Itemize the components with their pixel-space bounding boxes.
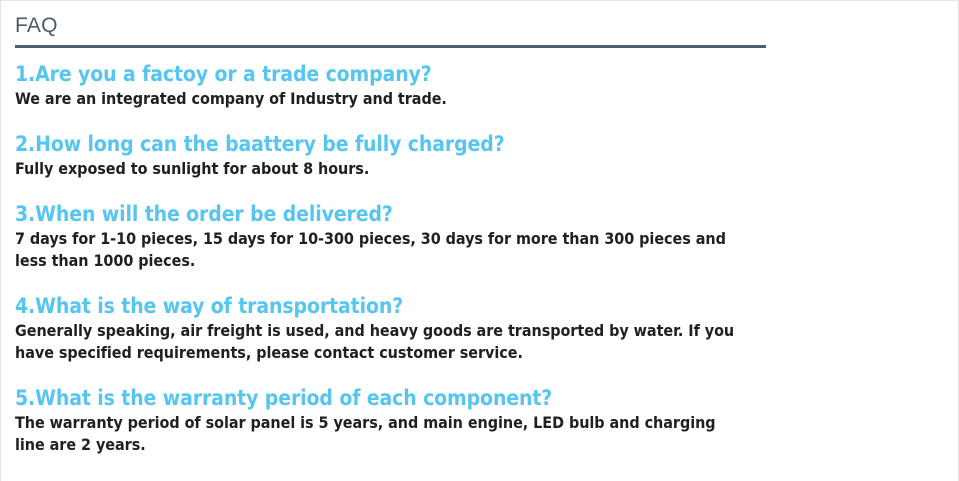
faq-answer: We are an integrated company of Industry… [15, 88, 743, 110]
faq-answer: Fully exposed to sunlight for about 8 ho… [15, 158, 743, 180]
faq-answer: 7 days for 1-10 pieces, 15 days for 10-3… [15, 228, 743, 272]
faq-panel: FAQ 1.Are you a factoy or a trade compan… [0, 0, 959, 481]
faq-question: 4.What is the way of transportation? [15, 294, 944, 318]
faq-item: 4.What is the way of transportation? Gen… [15, 294, 944, 364]
faq-question: 5.What is the warranty period of each co… [15, 386, 944, 410]
faq-list: 1.Are you a factoy or a trade company? W… [15, 48, 944, 456]
faq-answer: The warranty period of solar panel is 5 … [15, 412, 743, 456]
faq-question: 3.When will the order be delivered? [15, 202, 944, 226]
faq-item: 2.How long can the baattery be fully cha… [15, 132, 944, 180]
faq-item: 3.When will the order be delivered? 7 da… [15, 202, 944, 272]
faq-item: 1.Are you a factoy or a trade company? W… [15, 62, 944, 110]
faq-content: FAQ 1.Are you a factoy or a trade compan… [1, 1, 958, 456]
faq-answer: Generally speaking, air freight is used,… [15, 320, 743, 364]
faq-question: 1.Are you a factoy or a trade company? [15, 62, 944, 86]
faq-item: 5.What is the warranty period of each co… [15, 386, 944, 456]
faq-question: 2.How long can the baattery be fully cha… [15, 132, 944, 156]
page-title: FAQ [15, 13, 944, 43]
